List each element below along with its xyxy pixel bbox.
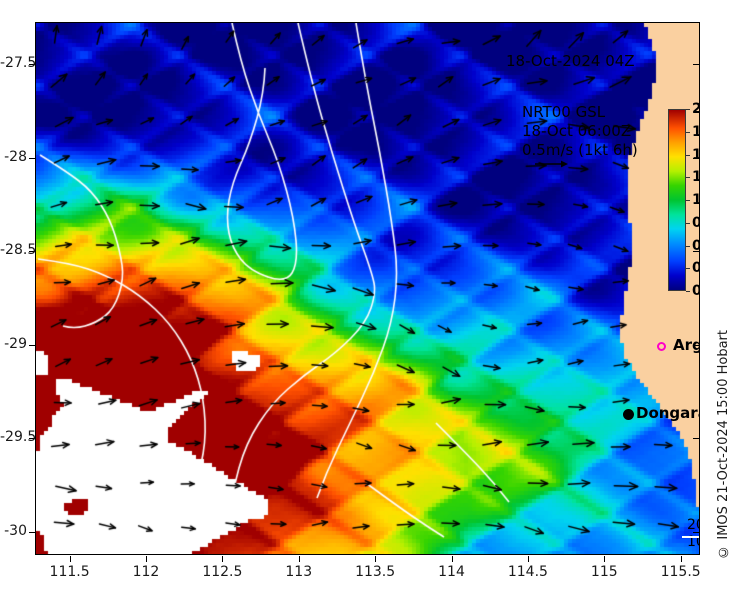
y-tick-label: -28 [0,149,27,165]
x-tick [146,556,147,562]
sst-age-map-figure: 18-Oct-2024 04Z NRT00 GSL 18-Oct 06:00Z … [0,0,740,592]
x-tick [70,556,71,562]
colorbar-tick [686,109,690,110]
x-tick [452,556,453,562]
x-tick [222,556,223,562]
y-tick-label: -27.5 [0,55,27,71]
timestamp-label: 18-Oct-2024 04Z [506,52,635,70]
y-tick-right [693,345,699,346]
copyright-credit: © IMOS 21-Oct-2024 15:00 Hobart [716,330,731,559]
y-tick-right [693,251,699,252]
y-tick-right [693,532,699,533]
model-annotation-block: NRT00 GSL 18-Oct 06:00Z 0.5m/s (1kt 6h) [522,103,638,160]
x-tick [681,556,682,562]
colorbar-tick [686,291,690,292]
y-tick [29,345,35,346]
y-tick-right [693,64,699,65]
y-tick [29,532,35,533]
x-tick [604,556,605,562]
y-tick-right [693,158,699,159]
x-tick-label: 113 [264,564,334,580]
x-tick [299,556,300,562]
x-tick-label: 115 [569,564,639,580]
colorbar-tick [686,223,690,224]
x-tick-label: 111.5 [35,564,105,580]
x-tick [528,556,529,562]
depth-1000m-key-line [682,554,700,555]
dongara-town-marker-icon [623,409,634,420]
y-tick [29,158,35,159]
y-tick-label: -29 [0,336,27,352]
colorbar-tick-label: 0 [692,283,700,299]
y-tick-label: -29.5 [0,429,27,445]
depth-contour-key: 200m 1000m [687,517,700,551]
x-tick-label: 112.5 [187,564,257,580]
colorbar-tick [686,268,690,269]
colorbar-tick-label: 0.75 [692,215,700,231]
y-tick-right [693,438,699,439]
colorbar-tick [686,132,690,133]
valid-time-label: 18-Oct 06:00Z [522,122,638,141]
colorbar-tick [686,155,690,156]
colorbar-tick [686,200,690,201]
argo-float-marker-icon [657,342,666,351]
x-tick-label: 114.5 [493,564,563,580]
x-tick-label: 114 [417,564,487,580]
model-name-label: NRT00 GSL [522,103,638,122]
colorbar-tick [686,177,690,178]
dongara-town-label: Dongara [636,404,700,422]
depth-200m-key-line [682,536,700,538]
vector-scale-label: 0.5m/s (1kt 6h) [522,141,638,160]
colorbar-tick-label: 1.5 [692,147,700,163]
x-tick-label: 112 [111,564,181,580]
y-tick-label: -30 [0,523,27,539]
colorbar-tick-label: 1.25 [692,169,700,185]
colorbar-tick-label: 0.25 [692,260,700,276]
colorbar-tick-label: 1.75 [692,124,700,140]
x-tick [375,556,376,562]
map-plot-area[interactable]: 18-Oct-2024 04Z NRT00 GSL 18-Oct 06:00Z … [35,22,700,555]
x-tick-label: 115.5 [646,564,716,580]
colorbar-gradient [668,109,686,291]
colorbar-tick-label: 2 [692,101,700,117]
colorbar-tick-label: 1 [692,192,700,208]
y-tick-label: -28.5 [0,242,27,258]
colorbar-tick [686,246,690,247]
x-tick-label: 113.5 [340,564,410,580]
vector-scale-arrow-icon [534,159,568,169]
